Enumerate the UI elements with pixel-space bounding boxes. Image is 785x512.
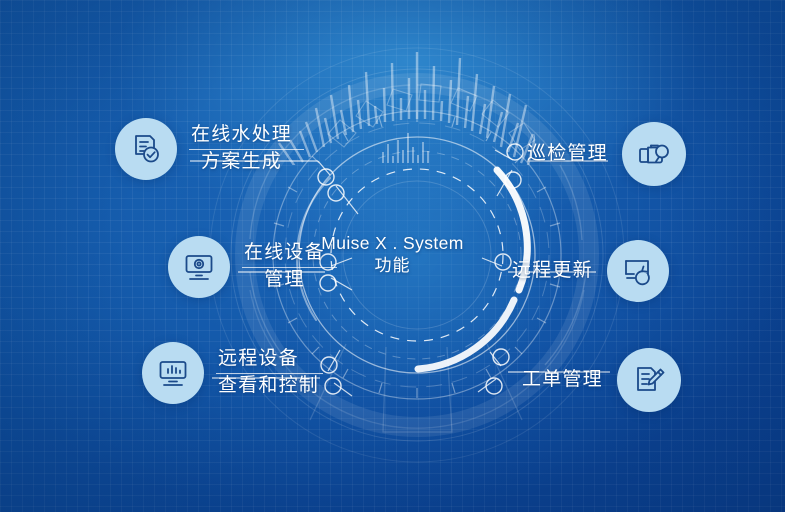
feature-node-online-device-management[interactable]: 在线设备 管理 xyxy=(168,236,325,298)
feature-node-remote-update[interactable]: 远程更新 xyxy=(512,240,669,302)
infographic-canvas: Muise X . System 功能 在线水处理 方案生成 xyxy=(0,0,785,512)
feature-label-line1: 工单管理 xyxy=(522,367,603,394)
feature-label-online-water-treatment: 在线水处理 方案生成 xyxy=(191,121,292,177)
feature-label-inspection-management: 巡检管理 xyxy=(527,141,608,168)
feature-label-remote-device-control: 远程设备 查看和控制 xyxy=(218,345,319,401)
feature-node-work-order-management[interactable]: 工单管理 xyxy=(522,348,681,412)
feature-node-inspection-management[interactable]: 巡检管理 xyxy=(527,122,686,186)
feature-node-remote-device-control[interactable]: 远程设备 查看和控制 xyxy=(142,342,319,404)
feature-label-line1: 远程更新 xyxy=(512,258,593,285)
monitor-chart-icon xyxy=(142,342,204,404)
label-divider xyxy=(216,373,323,374)
feature-label-line1: 巡检管理 xyxy=(527,141,608,168)
toolbox-search-icon xyxy=(622,122,686,186)
feature-label-line2: 管理 xyxy=(244,267,325,294)
monitor-refresh-icon xyxy=(607,240,669,302)
feature-label-line2: 方案生成 xyxy=(191,149,292,176)
feature-label-line2: 查看和控制 xyxy=(218,373,319,400)
feature-label-line1: 远程设备 xyxy=(218,346,319,373)
document-pen-icon xyxy=(617,348,681,412)
feature-label-remote-update: 远程更新 xyxy=(512,258,593,285)
feature-node-online-water-treatment[interactable]: 在线水处理 方案生成 xyxy=(115,118,292,180)
feature-label-work-order-management: 工单管理 xyxy=(522,367,603,394)
feature-label-line1: 在线水处理 xyxy=(191,122,292,149)
label-divider xyxy=(242,267,337,268)
document-check-icon xyxy=(115,118,177,180)
feature-label-line1: 在线设备 xyxy=(244,240,325,267)
label-divider xyxy=(189,149,304,150)
monitor-gear-icon xyxy=(168,236,230,298)
feature-label-online-device-management: 在线设备 管理 xyxy=(244,239,325,295)
